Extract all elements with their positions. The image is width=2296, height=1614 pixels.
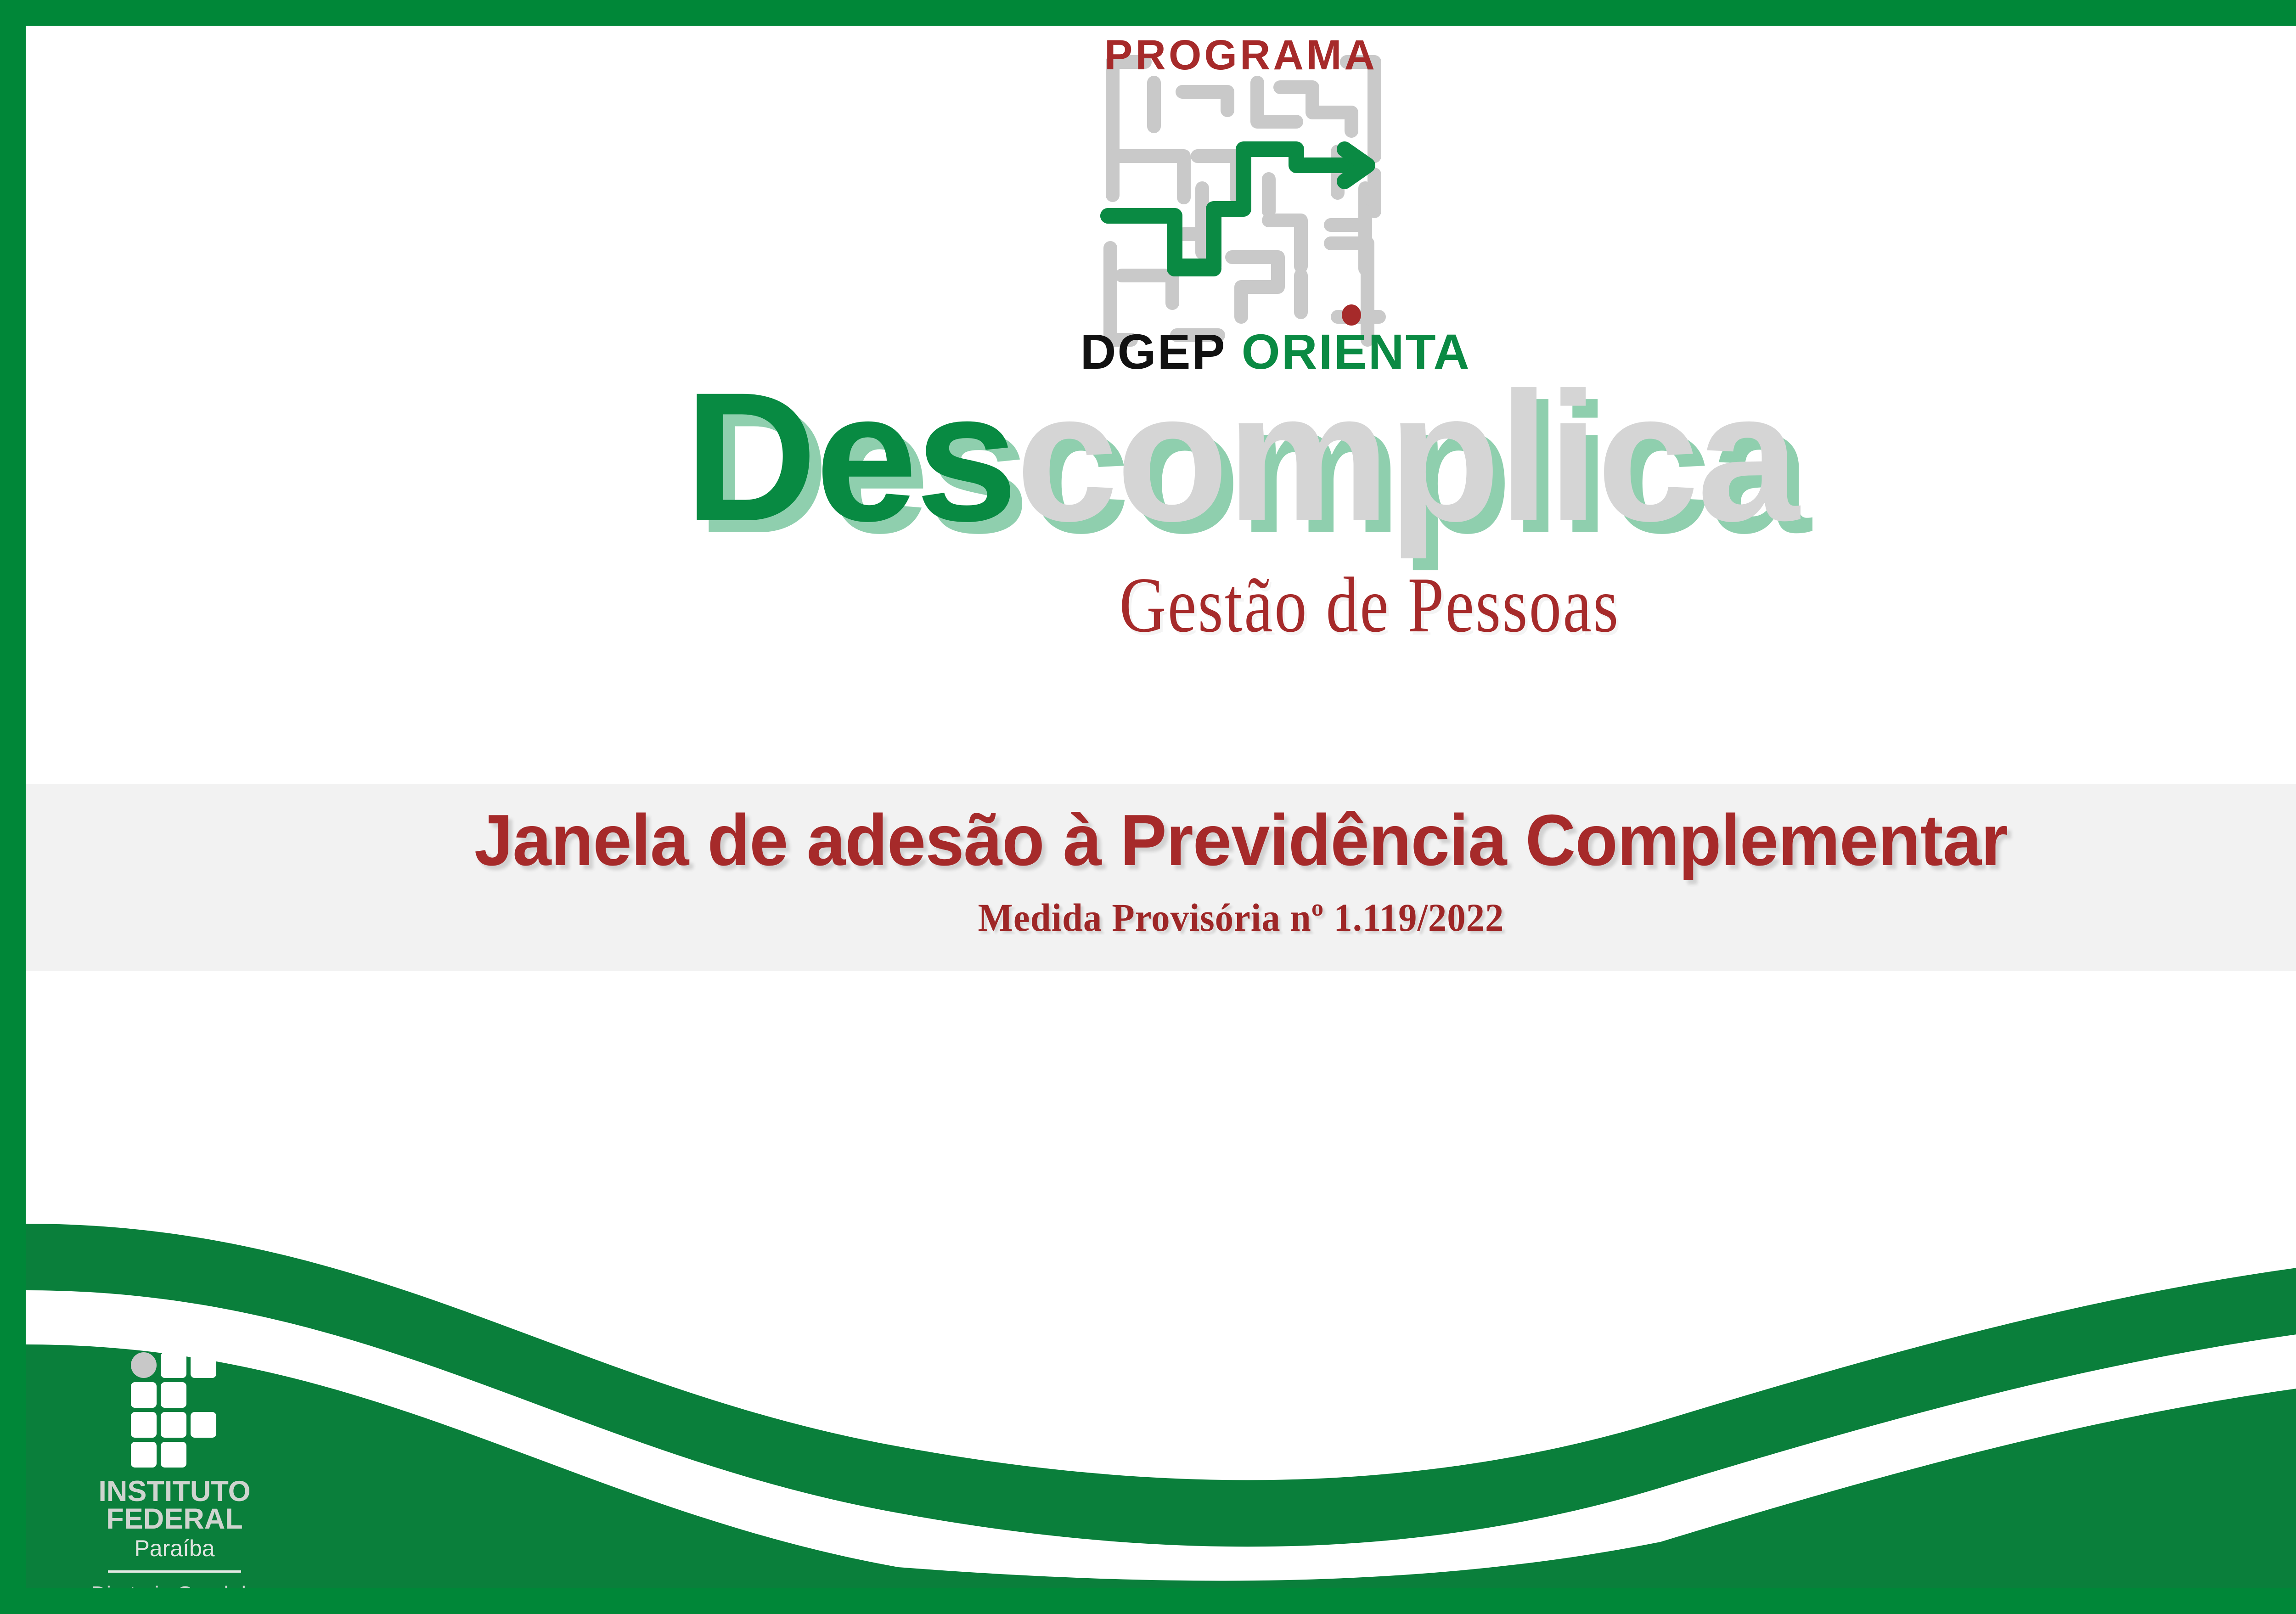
frame-border-bottom	[0, 1588, 2296, 1614]
grid-cell	[161, 1412, 186, 1438]
brand-subtitle: Gestão de Pessoas	[0, 566, 2296, 645]
grid-cell	[191, 1352, 216, 1378]
grid-cell	[161, 1382, 186, 1408]
ifpb-logo: INSTITUTO FEDERAL Paraíba Diretoria Gera…	[78, 1352, 271, 1614]
page-title: Janela de adesão à Previdência Complemen…	[74, 801, 2296, 880]
programa-label: PROGRAMA	[1080, 31, 1402, 79]
grid-cell	[131, 1382, 157, 1408]
grid-cell	[161, 1442, 186, 1468]
frame-border-top	[0, 0, 2296, 26]
grid-cell-empty	[191, 1442, 216, 1468]
institute-line-2: FEDERAL	[78, 1505, 271, 1533]
des-text: Des	[685, 354, 1016, 559]
page-subtitle: Medida Provisória nº 1.119/2022	[99, 898, 2296, 937]
descomplica-wordmark: Descomplica Descomplica	[0, 365, 2296, 549]
divider	[108, 1570, 241, 1573]
grid-cell	[161, 1352, 186, 1378]
maze-logo-wrap: PROGRAMA DGEP ORIENTA	[1080, 18, 1402, 381]
institute-state: Paraíba	[78, 1536, 271, 1561]
orienta-dot-icon	[1342, 304, 1361, 326]
institute-line-1: INSTITUTO	[78, 1478, 271, 1505]
grid-cell-empty	[191, 1382, 216, 1408]
institute-name: INSTITUTO FEDERAL	[78, 1478, 271, 1533]
frame-border-left	[0, 0, 26, 1614]
descomplica-front: Descomplica	[685, 365, 1798, 549]
grid-cell	[131, 1412, 157, 1438]
grid-cell	[191, 1412, 216, 1438]
headline-band: Janela de adesão à Previdência Complemen…	[26, 784, 2296, 971]
poster-canvas: PROGRAMA DGEP ORIENTA Descomplica Descom…	[0, 0, 2296, 1614]
grid-cell-circle	[131, 1352, 157, 1378]
brand-subtitle-text: Gestão de Pessoas	[1120, 566, 1620, 645]
green-wave-decoration	[26, 1171, 2296, 1588]
ifpb-grid-icon	[131, 1352, 218, 1468]
program-logo: PROGRAMA DGEP ORIENTA	[0, 18, 2296, 381]
complica-text: complica	[1016, 354, 1797, 559]
grid-cell	[131, 1442, 157, 1468]
